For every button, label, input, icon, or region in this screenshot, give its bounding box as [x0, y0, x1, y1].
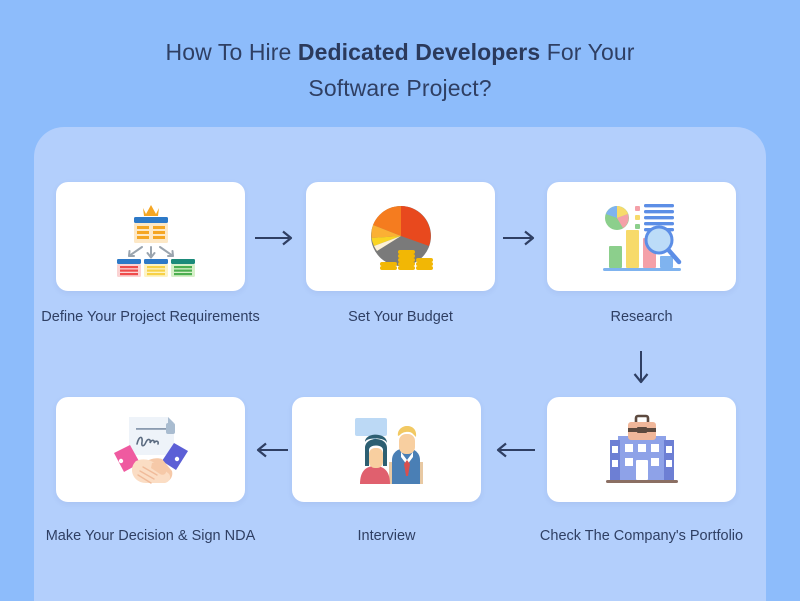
page-title-part1: How To Hire — [165, 39, 297, 65]
step-label-check-portfolio: Check The Company's Portfolio — [536, 527, 747, 546]
step-label-define-requirements: Define Your Project Requirements — [40, 308, 261, 327]
requirements-hierarchy-icon — [56, 182, 245, 291]
interview-two-people-icon — [292, 397, 481, 502]
step-label-research: Research — [541, 308, 742, 327]
step-card-check-portfolio[interactable] — [547, 397, 736, 502]
step-card-set-budget[interactable] — [306, 182, 495, 291]
arrow-left-step5-to-step6 — [250, 434, 292, 466]
step-card-interview[interactable] — [292, 397, 481, 502]
arrow-left-step4-to-step5 — [487, 434, 542, 466]
step-card-decision-nda[interactable] — [56, 397, 245, 502]
arrow-down-step3-to-step4 — [625, 348, 657, 390]
research-analytics-magnifier-icon — [547, 182, 736, 291]
step-label-interview: Interview — [286, 527, 487, 546]
handshake-contract-icon — [56, 397, 245, 502]
arrow-right-step2-to-step3 — [501, 222, 542, 254]
page-title: How To Hire Dedicated Developers For You… — [0, 34, 800, 106]
step-label-decision-nda: Make Your Decision & Sign NDA — [44, 527, 257, 546]
page-title-emphasis: Dedicated Developers — [298, 39, 540, 65]
step-card-research[interactable] — [547, 182, 736, 291]
budget-piechart-coins-icon — [306, 182, 495, 291]
page-header: How To Hire Dedicated Developers For You… — [0, 34, 800, 106]
company-building-briefcase-icon — [547, 397, 736, 502]
step-card-define-requirements[interactable] — [56, 182, 245, 291]
step-label-set-budget: Set Your Budget — [300, 308, 501, 327]
arrow-right-step1-to-step2 — [251, 222, 301, 254]
